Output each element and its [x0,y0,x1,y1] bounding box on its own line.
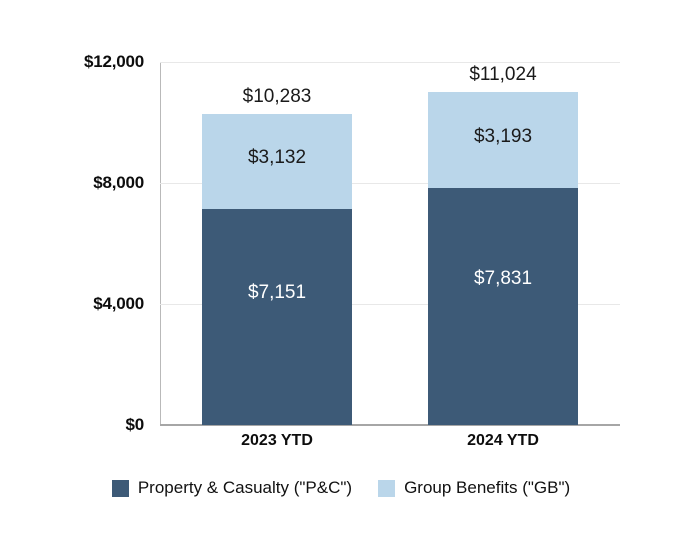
y-axis-tick-label: $0 [26,415,144,435]
legend-color-swatch [378,480,395,497]
bar-total-label: $11,024 [428,64,578,86]
bar-segment-value-label: $3,132 [248,148,306,167]
y-axis-tick-label: $12,000 [26,52,144,72]
y-axis-line [160,62,161,425]
bar-stack[interactable]: $11,024 $3,193 $7,831 [428,92,578,425]
stacked-bar-chart: $12,000 $8,000 $4,000 $0 $10,283 $3,132 … [0,0,682,560]
chart-legend: Property & Casualty ("P&C") Group Benefi… [0,478,682,498]
bar-segment-group-benefits[interactable]: $3,132 [202,114,352,209]
plot-area: $10,283 $3,132 $7,151 $11,024 $3,193 $7,… [160,62,620,425]
x-axis: 2023 YTD 2024 YTD [160,432,620,458]
legend-item-group-benefits[interactable]: Group Benefits ("GB") [378,478,570,498]
x-axis-category-label: 2024 YTD [428,432,578,450]
bar-segment-property-casualty[interactable]: $7,151 [202,209,352,425]
bar-segment-group-benefits[interactable]: $3,193 [428,92,578,189]
legend-item-label: Group Benefits ("GB") [404,478,570,498]
bar-stack[interactable]: $10,283 $3,132 $7,151 [202,114,352,425]
bar-segment-value-label: $3,193 [474,127,532,146]
bar-total-label: $10,283 [202,86,352,108]
legend-color-swatch [112,480,129,497]
x-axis-category-label: 2023 YTD [202,432,352,450]
y-axis: $12,000 $8,000 $4,000 $0 [26,0,144,560]
bar-segment-property-casualty[interactable]: $7,831 [428,188,578,425]
y-axis-tick-label: $4,000 [26,294,144,314]
legend-item-property-casualty[interactable]: Property & Casualty ("P&C") [112,478,352,498]
bar-segment-value-label: $7,151 [248,283,306,302]
legend-item-label: Property & Casualty ("P&C") [138,478,352,498]
y-axis-tick-label: $8,000 [26,173,144,193]
bar-segment-value-label: $7,831 [474,269,532,288]
